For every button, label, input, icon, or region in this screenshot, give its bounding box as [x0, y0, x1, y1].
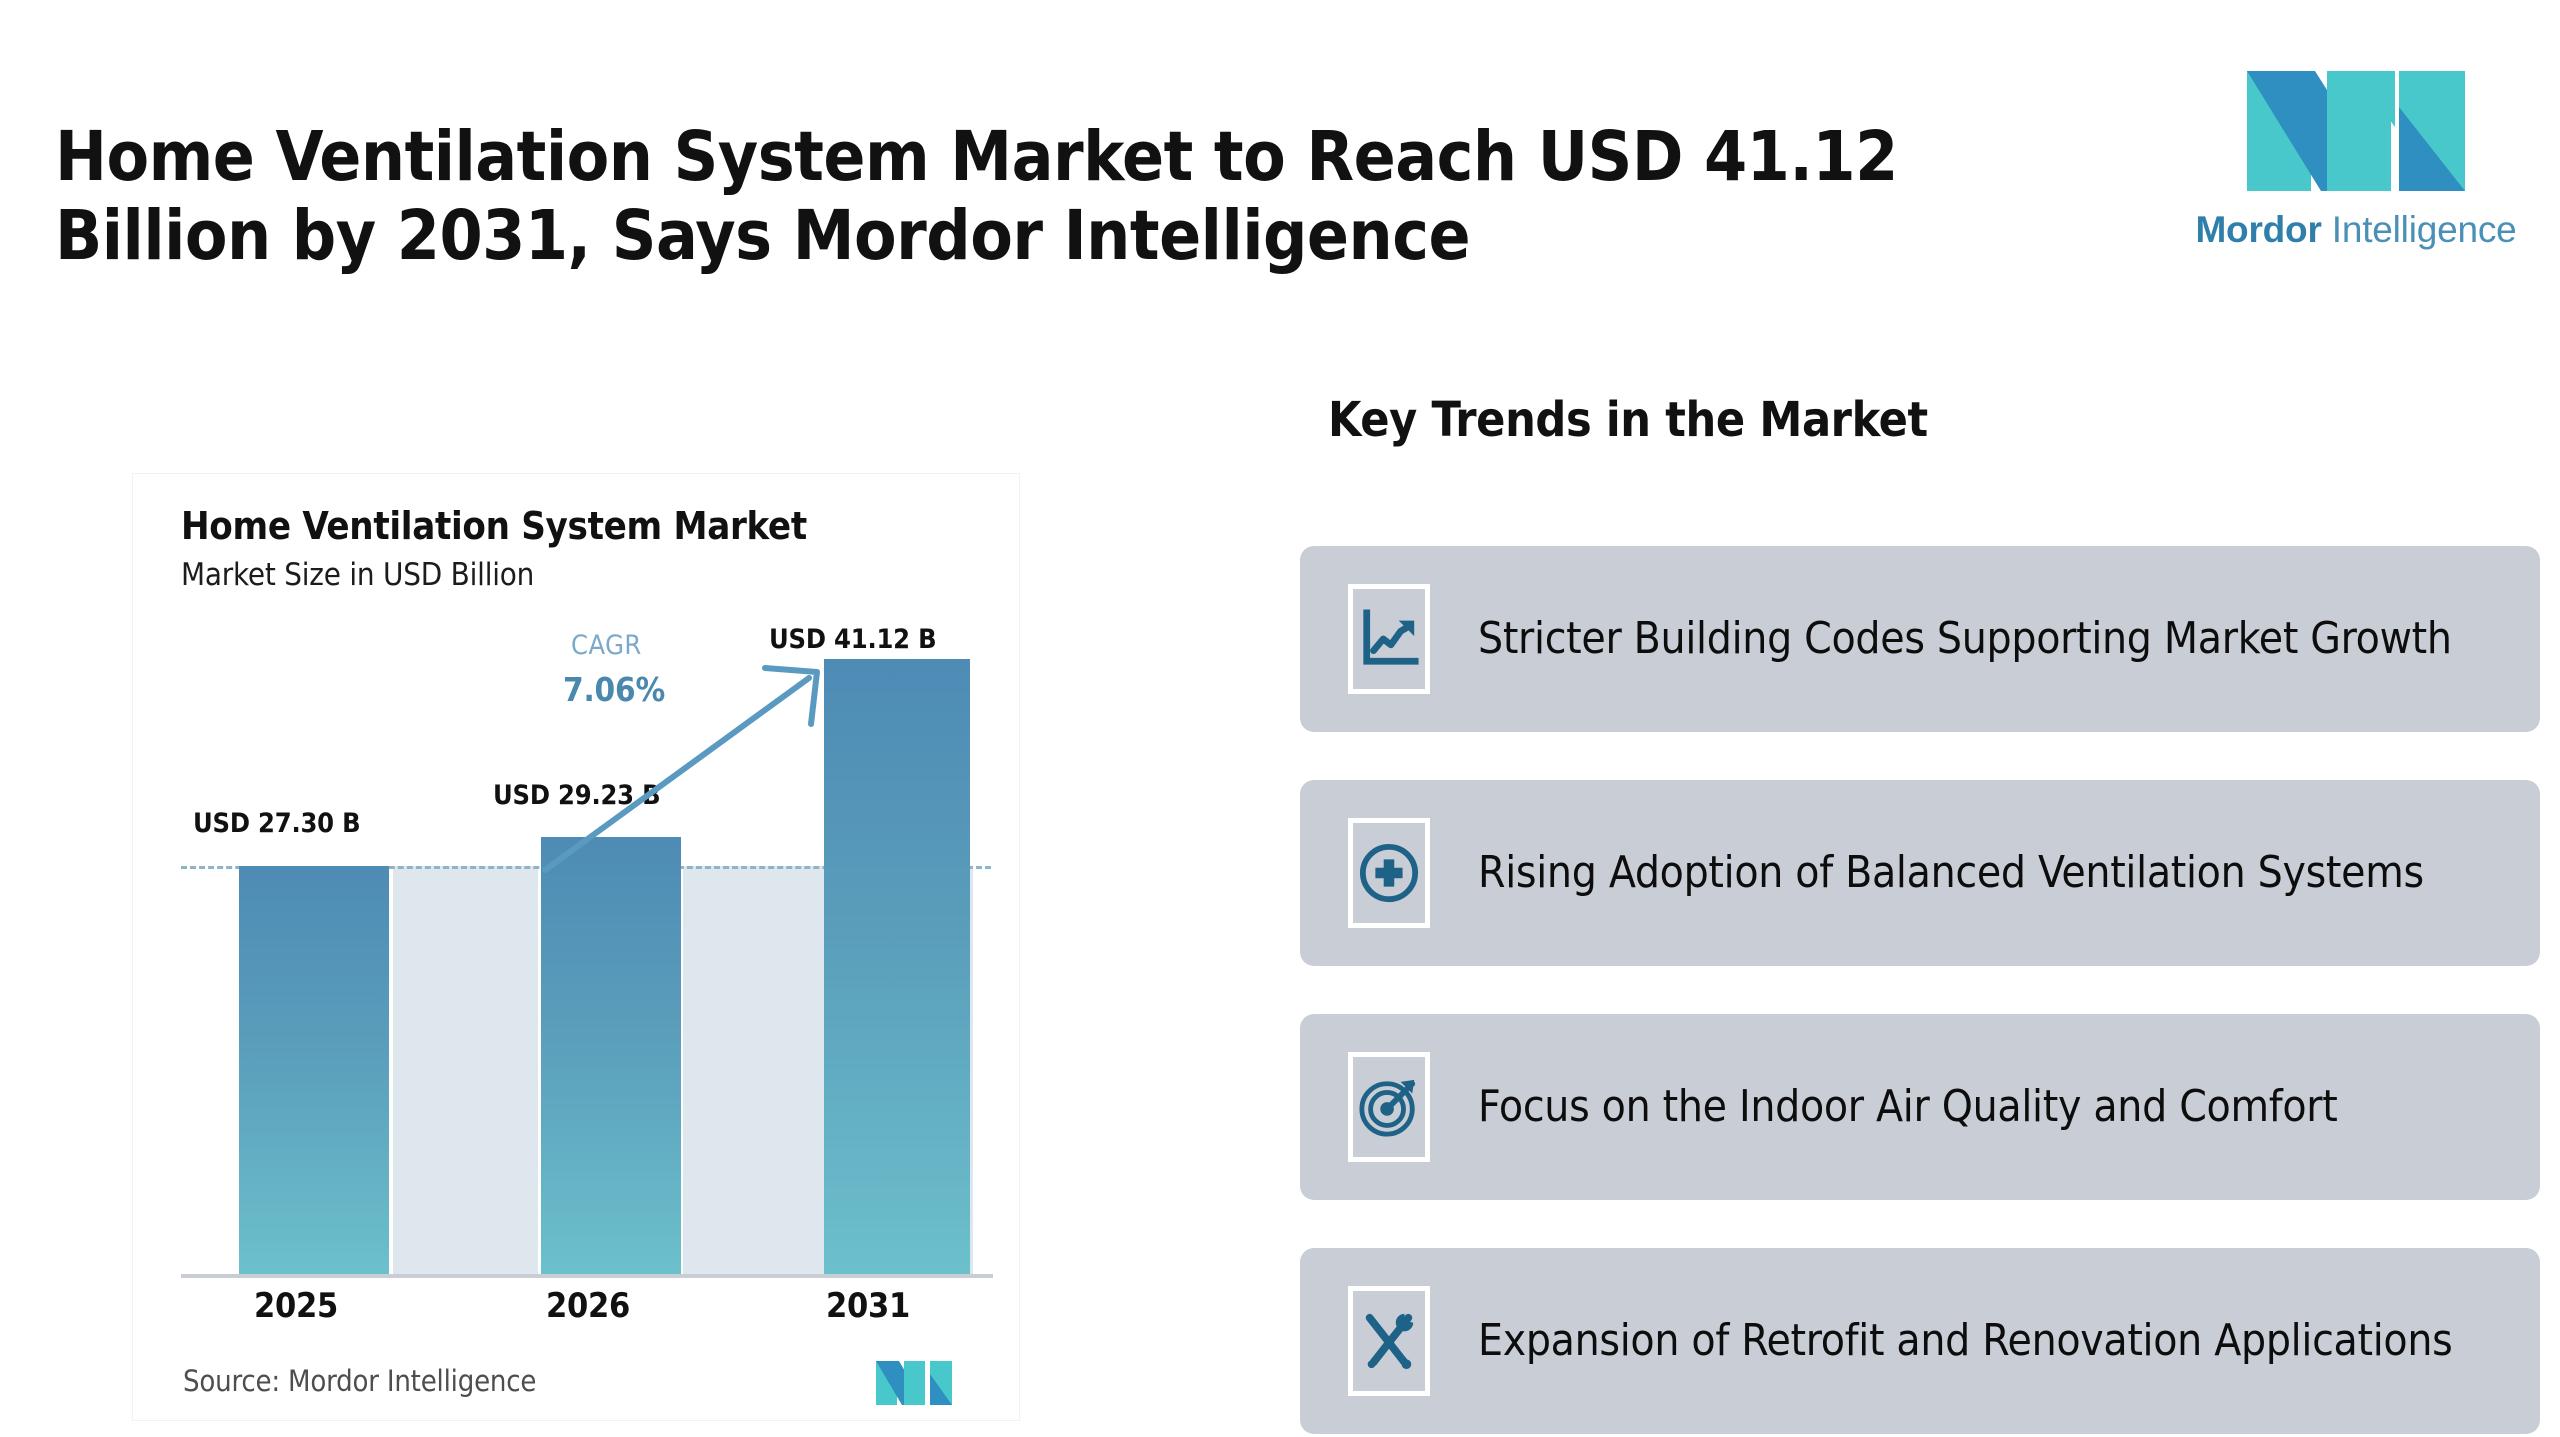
trend-card-text-2: Rising Adoption of Balanced Ventilation … — [1478, 845, 2424, 901]
page-title: Home Ventilation System Market to Reach … — [55, 118, 2015, 275]
brand-name-bold: Mordor — [2195, 209, 2321, 250]
chart-panel: Home Ventilation System Market Market Si… — [133, 474, 1019, 1420]
trend-icon-box-2 — [1348, 818, 1430, 928]
trend-card-text-1: Stricter Building Codes Supporting Marke… — [1478, 611, 2452, 667]
chart-value-label-2031: USD 41.12 B — [769, 624, 936, 655]
brand-logo-text: Mordor Intelligence — [2195, 209, 2516, 251]
trend-icon-box-3 — [1348, 1052, 1430, 1162]
growth-chart-icon — [1358, 608, 1420, 670]
trend-card-4[interactable]: Expansion of Retrofit and Renovation App… — [1300, 1248, 2540, 1434]
trend-card-2[interactable]: Rising Adoption of Balanced Ventilation … — [1300, 780, 2540, 966]
target-arrow-icon — [1358, 1076, 1420, 1138]
chart-x-tick-2025: 2025 — [191, 1286, 401, 1326]
infographic-page: Home Ventilation System Market to Reach … — [0, 0, 2560, 1437]
chart-plot-area: USD 27.30 B USD 29.23 B USD 41.12 B CAGR… — [181, 652, 991, 1274]
chart-title: Home Ventilation System Market — [181, 504, 807, 548]
chart-x-tick-2026: 2026 — [483, 1286, 693, 1326]
brand-logo: Mordor Intelligence — [2186, 6, 2526, 311]
cagr-growth-arrow-icon — [181, 652, 991, 1274]
mordor-m-logo-icon — [2243, 67, 2469, 195]
chart-subtitle: Market Size in USD Billion — [181, 557, 534, 593]
brand-name-light: Intelligence — [2322, 209, 2517, 250]
chart-x-axis-line — [181, 1274, 993, 1278]
trend-card-3[interactable]: Focus on the Indoor Air Quality and Comf… — [1300, 1014, 2540, 1200]
trends-heading: Key Trends in the Market — [1328, 392, 1928, 448]
circle-plus-icon — [1358, 842, 1420, 904]
chart-source-label: Source: Mordor Intelligence — [183, 1364, 536, 1398]
source-mordor-logo-icon — [875, 1360, 953, 1406]
trend-card-text-4: Expansion of Retrofit and Renovation App… — [1478, 1313, 2452, 1369]
trend-icon-box-1 — [1348, 584, 1430, 694]
tools-icon — [1358, 1310, 1420, 1372]
chart-x-tick-2031: 2031 — [763, 1286, 973, 1326]
trends-card-list: Stricter Building Codes Supporting Marke… — [1300, 546, 2540, 1437]
trend-card-1[interactable]: Stricter Building Codes Supporting Marke… — [1300, 546, 2540, 732]
trend-card-text-3: Focus on the Indoor Air Quality and Comf… — [1478, 1079, 2337, 1135]
trend-icon-box-4 — [1348, 1286, 1430, 1396]
